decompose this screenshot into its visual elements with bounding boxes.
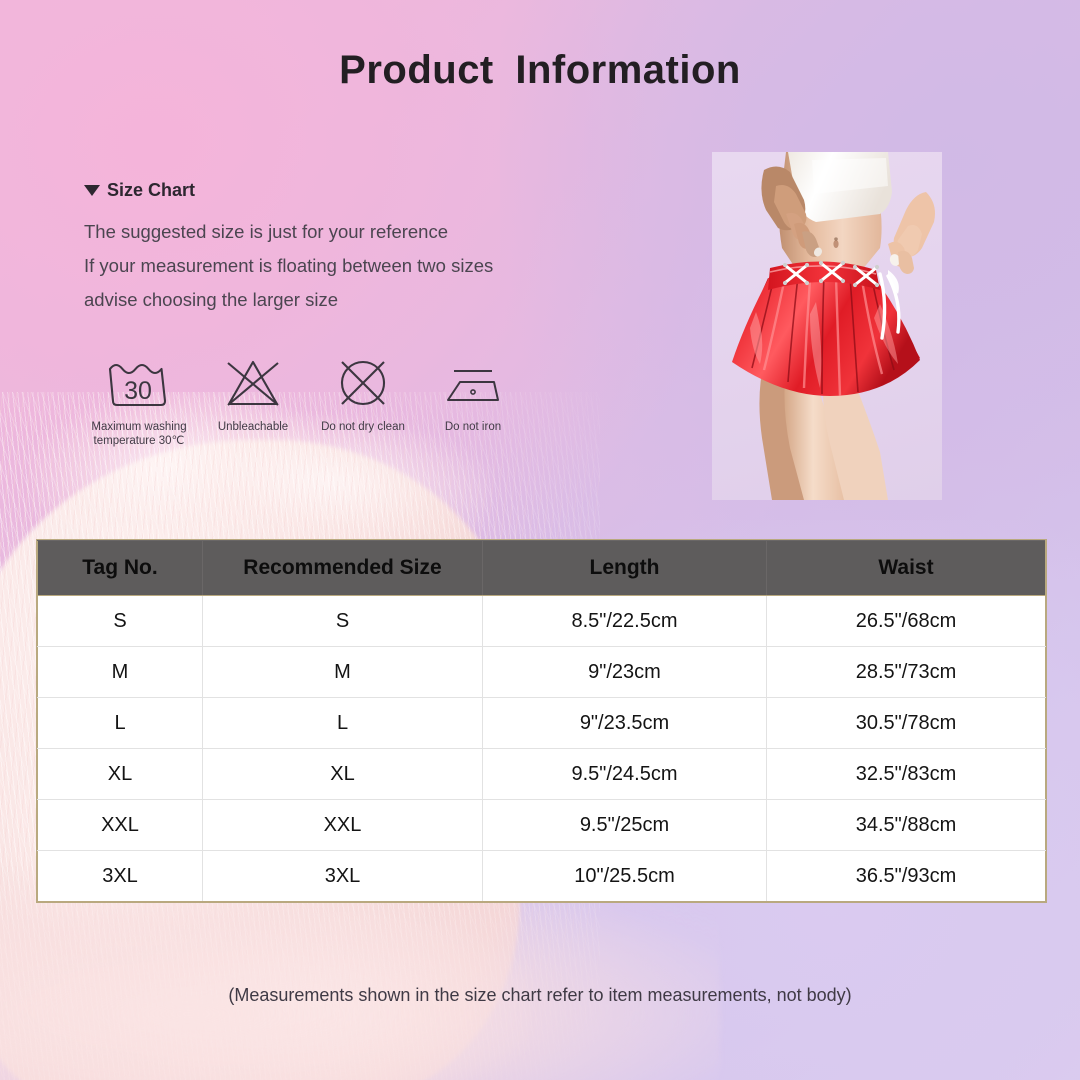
cell-tag-no: M xyxy=(38,647,203,698)
table-row: M M 9"/23cm 28.5"/73cm xyxy=(38,647,1046,698)
care-symbol-label: Maximum washing temperature 30℃ xyxy=(91,420,186,448)
size-chart-heading-label: Size Chart xyxy=(107,180,195,201)
cell-waist: 36.5"/93cm xyxy=(767,851,1046,902)
cell-tag-no: XXL xyxy=(38,800,203,851)
wash-tub-30-icon: 30 xyxy=(102,352,176,414)
column-header-recommended-size: Recommended Size xyxy=(203,541,483,596)
cell-length: 8.5"/22.5cm xyxy=(483,596,767,647)
care-symbol-wash-30: 30 Maximum washing temperature 30℃ xyxy=(80,352,198,448)
cell-recommended-size: XXL xyxy=(203,800,483,851)
size-chart-note-line: If your measurement is floating between … xyxy=(84,249,604,283)
cell-length: 9.5"/25cm xyxy=(483,800,767,851)
cell-length: 9"/23.5cm xyxy=(483,698,767,749)
column-header-tag-no: Tag No. xyxy=(38,541,203,596)
product-information-page: Product Information Size Chart The sugge… xyxy=(0,0,1080,1080)
product-photo xyxy=(712,152,942,500)
table-row: XXL XXL 9.5"/25cm 34.5"/88cm xyxy=(38,800,1046,851)
cell-length: 10"/25.5cm xyxy=(483,851,767,902)
size-chart-note-line: The suggested size is just for your refe… xyxy=(84,215,604,249)
cell-waist: 28.5"/73cm xyxy=(767,647,1046,698)
cell-tag-no: 3XL xyxy=(38,851,203,902)
cell-recommended-size: XL xyxy=(203,749,483,800)
product-photo-illustration xyxy=(712,152,942,500)
no-dry-clean-circle-icon xyxy=(332,352,394,414)
size-chart-info-block: Size Chart The suggested size is just fo… xyxy=(84,180,604,317)
cell-recommended-size: S xyxy=(203,596,483,647)
no-bleach-triangle-icon xyxy=(220,352,286,414)
cell-length: 9"/23cm xyxy=(483,647,767,698)
care-symbols-row: 30 Maximum washing temperature 30℃ Unble… xyxy=(80,352,528,448)
care-symbol-no-iron: Do not iron xyxy=(418,352,528,434)
size-chart-note-line: advise choosing the larger size xyxy=(84,283,604,317)
no-iron-icon xyxy=(440,352,506,414)
cell-tag-no: XL xyxy=(38,749,203,800)
table-row: S S 8.5"/22.5cm 26.5"/68cm xyxy=(38,596,1046,647)
table-row: XL XL 9.5"/24.5cm 32.5"/83cm xyxy=(38,749,1046,800)
page-title: Product Information xyxy=(0,48,1080,93)
care-symbol-no-dry-clean: Do not dry clean xyxy=(308,352,418,434)
care-symbol-label: Do not dry clean xyxy=(321,420,405,434)
cell-length: 9.5"/24.5cm xyxy=(483,749,767,800)
cell-waist: 32.5"/83cm xyxy=(767,749,1046,800)
cell-tag-no: S xyxy=(38,596,203,647)
cell-waist: 30.5"/78cm xyxy=(767,698,1046,749)
care-symbol-label: Unbleachable xyxy=(218,420,288,434)
column-header-waist: Waist xyxy=(767,541,1046,596)
table-row: L L 9"/23.5cm 30.5"/78cm xyxy=(38,698,1046,749)
svg-text:30: 30 xyxy=(124,377,152,405)
table-header-row: Tag No. Recommended Size Length Waist xyxy=(38,541,1046,596)
measurement-disclaimer: (Measurements shown in the size chart re… xyxy=(0,985,1080,1006)
size-chart-table: Tag No. Recommended Size Length Waist S … xyxy=(37,540,1046,902)
care-symbol-label: Do not iron xyxy=(445,420,501,434)
cell-tag-no: L xyxy=(38,698,203,749)
table-row: 3XL 3XL 10"/25.5cm 36.5"/93cm xyxy=(38,851,1046,902)
cell-recommended-size: 3XL xyxy=(203,851,483,902)
cell-waist: 34.5"/88cm xyxy=(767,800,1046,851)
size-chart-heading: Size Chart xyxy=(84,180,604,201)
cell-recommended-size: M xyxy=(203,647,483,698)
triangle-down-icon xyxy=(84,185,100,196)
column-header-length: Length xyxy=(483,541,767,596)
cell-recommended-size: L xyxy=(203,698,483,749)
care-symbol-unbleachable: Unbleachable xyxy=(198,352,308,434)
cell-waist: 26.5"/68cm xyxy=(767,596,1046,647)
